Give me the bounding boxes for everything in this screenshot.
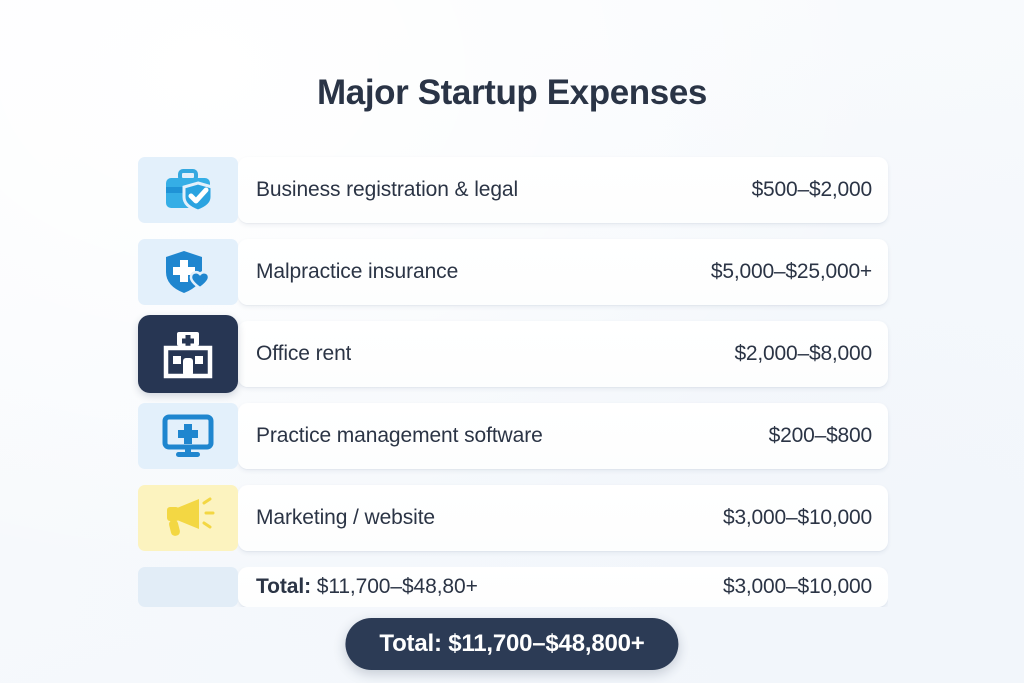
expense-row[interactable]: Office rent $2,000–$8,000 [138,321,888,387]
total-label: Total: $11,700–$48,80+ [256,575,478,599]
total-row-amount: $3,000–$10,000 [723,575,872,599]
expense-list: Business registration & legal $500–$2,00… [138,157,888,607]
expense-row[interactable]: Practice management software $200–$800 [138,403,888,469]
expense-card[interactable]: Marketing / website $3,000–$10,000 [238,485,888,551]
expense-row[interactable]: Business registration & legal $500–$2,00… [138,157,888,223]
expense-label: Practice management software [256,424,543,448]
hospital-building-icon [138,315,238,393]
expense-amount: $3,000–$10,000 [723,506,872,530]
total-label-bold: Total: [256,575,311,598]
expense-label: Marketing / website [256,506,435,530]
expense-amount: $2,000–$8,000 [734,342,872,366]
expense-card[interactable]: Malpractice insurance $5,000–$25,000+ [238,239,888,305]
expense-card[interactable]: Practice management software $200–$800 [238,403,888,469]
expense-label: Malpractice insurance [256,260,458,284]
total-row[interactable]: Total: $11,700–$48,80+ $3,000–$10,000 [138,567,888,607]
total-badge: Total: $11,700–$48,800+ [345,618,678,670]
expense-label: Business registration & legal [256,178,518,202]
page-title: Major Startup Expenses [0,72,1024,114]
expense-row[interactable]: Marketing / website $3,000–$10,000 [138,485,888,551]
briefcase-shield-check-icon [138,157,238,223]
shield-cross-heart-icon [138,239,238,305]
expense-amount: $500–$2,000 [752,178,872,202]
empty-tile [138,567,238,607]
megaphone-icon [138,485,238,551]
monitor-cross-icon [138,403,238,469]
expense-amount: $5,000–$25,000+ [711,260,872,284]
expense-card[interactable]: Business registration & legal $500–$2,00… [238,157,888,223]
total-card[interactable]: Total: $11,700–$48,80+ $3,000–$10,000 [238,567,888,607]
total-label-rest: $11,700–$48,80+ [311,575,478,598]
expense-label: Office rent [256,342,351,366]
expense-amount: $200–$800 [769,424,872,448]
expense-row[interactable]: Malpractice insurance $5,000–$25,000+ [138,239,888,305]
expense-card[interactable]: Office rent $2,000–$8,000 [238,321,888,387]
